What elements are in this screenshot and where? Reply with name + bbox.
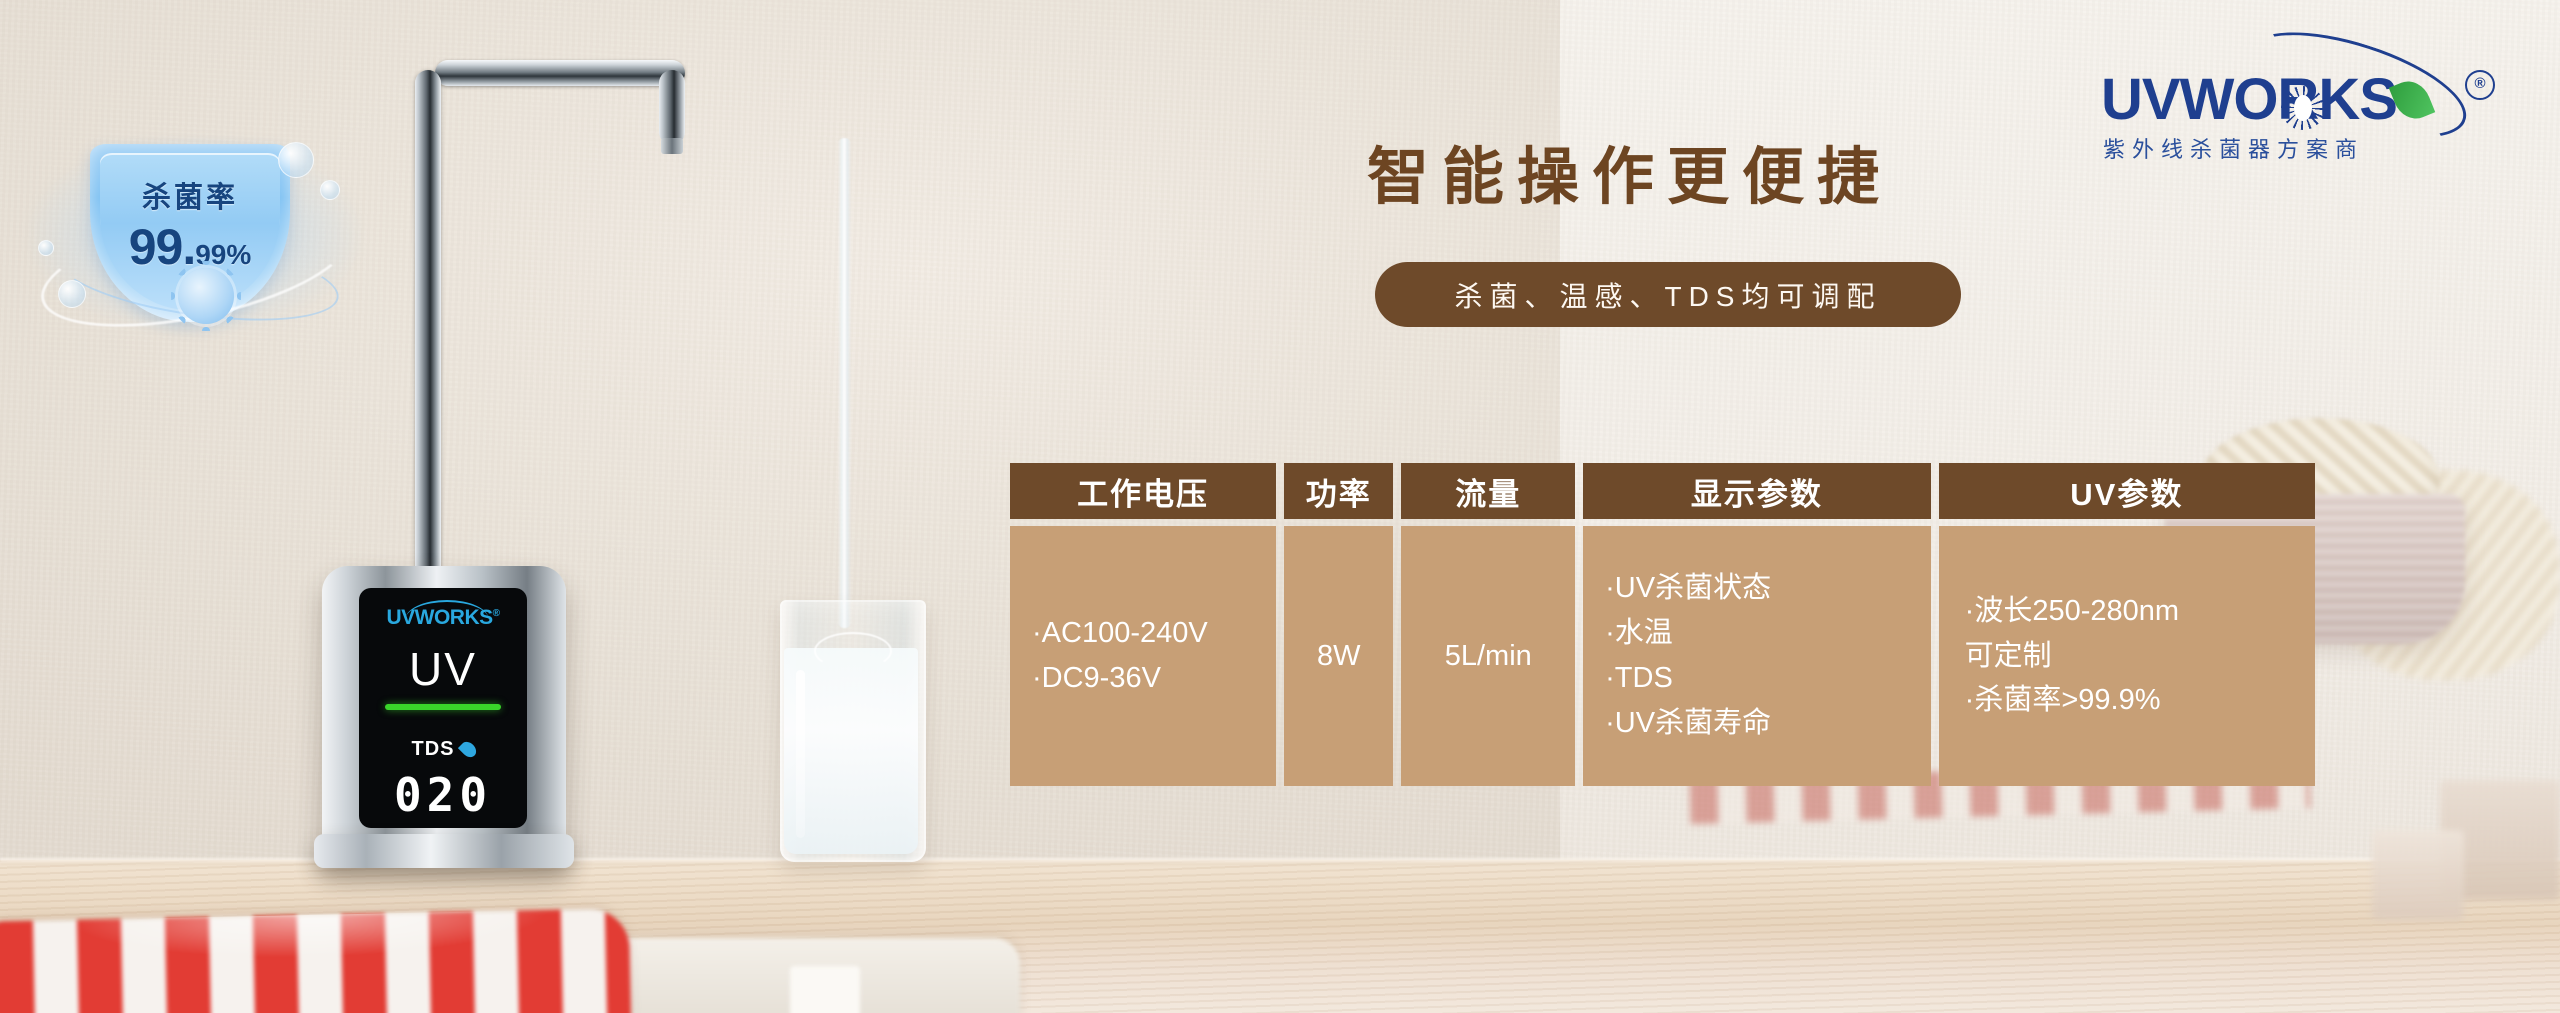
banner-canvas: UVWORKS® UV TDS 020 杀菌率 99.99% UVWORK bbox=[0, 0, 2560, 1013]
spec-line: ·UV杀菌状态 bbox=[1605, 566, 1771, 611]
spec-line: ·AC100-240V bbox=[1032, 611, 1208, 656]
spec-header-flow: 流量 bbox=[1401, 463, 1575, 519]
feature-pill: 杀菌、温感、TDS均可调配 bbox=[1375, 262, 1961, 327]
spec-line: 5L/min bbox=[1445, 634, 1532, 679]
water-splash bbox=[814, 632, 892, 670]
spec-body-uv: ·波长250-280nm 可定制 ·杀菌率>99.9% bbox=[1939, 526, 2315, 786]
spec-table: 工作电压 ·AC100-240V ·DC9-36V 功率 8W 流量 5L/mi… bbox=[1010, 463, 2315, 786]
tds-text: TDS bbox=[412, 738, 455, 760]
background-box-small bbox=[2372, 830, 2464, 920]
germ-icon bbox=[178, 268, 234, 324]
spec-body-flow: 5L/min bbox=[1401, 526, 1575, 786]
bubble-icon-1 bbox=[278, 142, 314, 178]
spec-line: 可定制 bbox=[1965, 634, 2052, 679]
brand-tagline: 紫外线杀菌器方案商 bbox=[2103, 132, 2493, 164]
spec-header-uv: UV参数 bbox=[1939, 463, 2315, 519]
spec-line: ·杀菌率>99.9% bbox=[1965, 678, 2161, 723]
spec-line: 8W bbox=[1317, 634, 1361, 679]
spec-column-flow: 流量 5L/min bbox=[1401, 463, 1575, 786]
faucet-right-spout bbox=[659, 70, 685, 145]
spec-line: ·TDS bbox=[1605, 656, 1673, 701]
chrome-faucet bbox=[415, 60, 695, 620]
brand-logo: UVWORKS ® 紫外线杀菌器方案商 bbox=[2095, 34, 2495, 164]
device-brand-text: UVWORKS bbox=[386, 606, 492, 629]
spec-line: ·UV杀菌寿命 bbox=[1605, 701, 1771, 746]
brand-wordmark: UVWORKS bbox=[2101, 66, 2397, 133]
sunburst-icon bbox=[2281, 86, 2325, 130]
spec-column-voltage: 工作电压 ·AC100-240V ·DC9-36V bbox=[1010, 463, 1276, 786]
water-glass bbox=[772, 600, 930, 862]
spec-column-uv: UV参数 ·波长250-280nm 可定制 ·杀菌率>99.9% bbox=[1939, 463, 2315, 786]
bowl-label-tag bbox=[790, 966, 860, 1013]
spec-line: ·水温 bbox=[1605, 611, 1673, 656]
feature-pill-label: 杀菌、温感、TDS均可调配 bbox=[1454, 275, 1881, 315]
device-brand-logo: UVWORKS® bbox=[359, 606, 527, 630]
water-stream bbox=[838, 138, 851, 628]
spec-column-display: 显示参数 ·UV杀菌状态 ·水温 ·TDS ·UV杀菌寿命 bbox=[1583, 463, 1931, 786]
water-drop-icon bbox=[457, 739, 478, 760]
bubble-icon-4 bbox=[38, 240, 54, 256]
spec-line: ·波长250-280nm bbox=[1965, 589, 2179, 634]
device-status-bar bbox=[385, 704, 501, 710]
spec-body-voltage: ·AC100-240V ·DC9-36V bbox=[1010, 526, 1276, 786]
device-tds-label: TDS bbox=[359, 738, 527, 761]
spec-body-display: ·UV杀菌状态 ·水温 ·TDS ·UV杀菌寿命 bbox=[1583, 526, 1931, 786]
spec-line: ·DC9-36V bbox=[1032, 656, 1161, 701]
spec-header-display: 显示参数 bbox=[1583, 463, 1931, 519]
spec-header-voltage: 工作电压 bbox=[1010, 463, 1276, 519]
spec-header-power: 功率 bbox=[1284, 463, 1393, 519]
page-title: 智能操作更便捷 bbox=[1367, 126, 1892, 216]
faucet-left-riser bbox=[415, 70, 441, 620]
faucet-horizontal-arm bbox=[435, 60, 685, 86]
spec-column-power: 功率 8W bbox=[1284, 463, 1393, 786]
glass-highlight bbox=[796, 670, 805, 838]
device-display-screen: UVWORKS® UV TDS 020 bbox=[359, 588, 527, 828]
faucet-nozzle bbox=[661, 138, 683, 154]
bubble-icon-3 bbox=[58, 280, 86, 308]
bubble-icon-2 bbox=[320, 180, 340, 200]
uv-sterilizer-device: UVWORKS® UV TDS 020 bbox=[322, 566, 566, 866]
registered-mark: ® bbox=[2465, 70, 2495, 100]
device-registered-mark: ® bbox=[493, 608, 500, 619]
cloth-highlight bbox=[0, 908, 631, 1013]
sterilization-rate-badge: 杀菌率 99.99% bbox=[30, 120, 360, 340]
device-tds-value: 020 bbox=[359, 768, 527, 822]
device-mode-label: UV bbox=[359, 642, 527, 696]
device-base bbox=[314, 834, 574, 868]
spec-body-power: 8W bbox=[1284, 526, 1393, 786]
